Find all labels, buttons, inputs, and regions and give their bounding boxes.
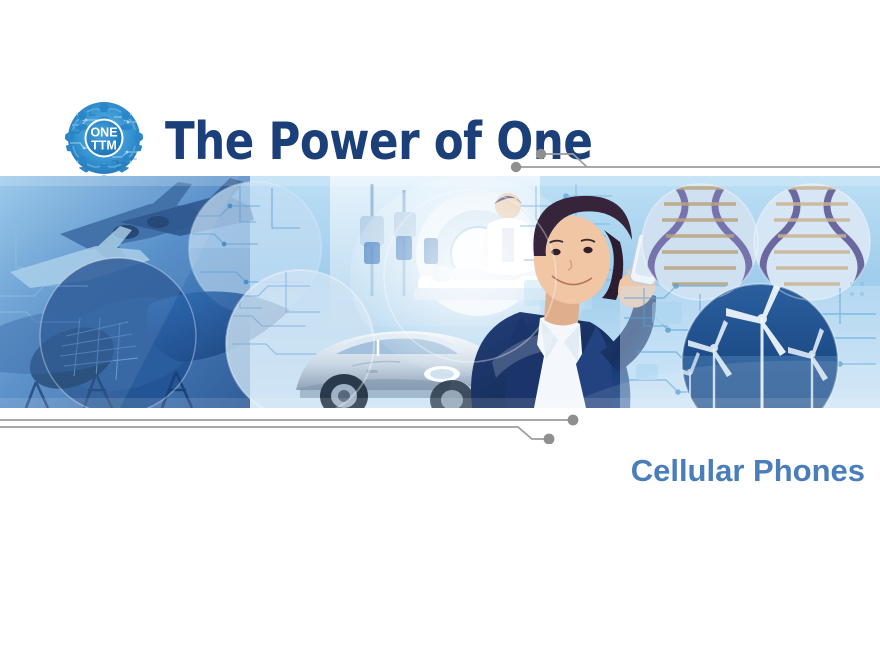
circuit-trace-top (505, 142, 880, 176)
trace-dot-lower (511, 162, 521, 172)
slide-canvas: ONE TTM The Power of One (0, 0, 880, 660)
logo-text-ttm: TTM (91, 139, 117, 153)
one-ttm-logo: ONE TTM (58, 99, 150, 177)
logo-text-one: ONE (90, 126, 117, 140)
trace-dot-upper (536, 149, 546, 159)
technology-banner (0, 176, 880, 408)
trace-dot-upper (568, 415, 579, 426)
trace-dot-lower (544, 434, 555, 444)
slide-title: Cellular Phones (360, 452, 865, 490)
brand-wordmark: The Power of One (165, 111, 491, 173)
circuit-trace-bottom (0, 412, 600, 444)
header-lockup: ONE TTM The Power of One (0, 0, 880, 176)
